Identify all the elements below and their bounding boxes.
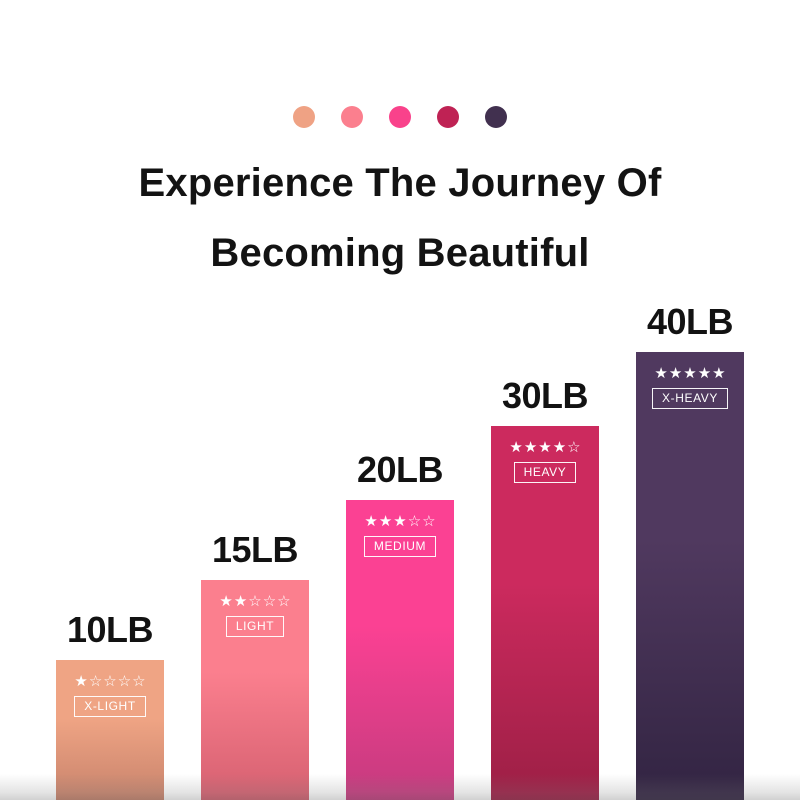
rating-stars: ★★★★★ — [654, 366, 725, 381]
star-filled-icon: ★ — [538, 440, 551, 455]
bar-column-30lb[interactable]: 30LB★★★★☆HEAVY — [491, 378, 599, 800]
bar-column-10lb[interactable]: 10LB★☆☆☆☆X-LIGHT — [56, 612, 164, 800]
resistance-bar-chart: 10LB★☆☆☆☆X-LIGHT15LB★★☆☆☆LIGHT20LB★★★☆☆M… — [0, 280, 800, 800]
star-filled-icon: ★ — [364, 514, 377, 529]
star-empty-icon: ☆ — [422, 514, 435, 529]
rating-stars: ★★☆☆☆ — [219, 594, 290, 609]
level-badge: LIGHT — [226, 616, 284, 637]
rating-stars: ★★★☆☆ — [364, 514, 435, 529]
star-empty-icon: ☆ — [89, 674, 102, 689]
star-filled-icon: ★ — [654, 366, 667, 381]
star-empty-icon: ☆ — [132, 674, 145, 689]
bar-column-20lb[interactable]: 20LB★★★☆☆MEDIUM — [346, 452, 454, 800]
headline-line-2: Becoming Beautiful — [0, 218, 800, 288]
star-filled-icon: ★ — [683, 366, 696, 381]
star-filled-icon: ★ — [669, 366, 682, 381]
bar-body: ★★☆☆☆LIGHT — [201, 580, 309, 800]
bar-body: ★☆☆☆☆X-LIGHT — [56, 660, 164, 800]
star-empty-icon: ☆ — [103, 674, 116, 689]
decorative-dot-row — [0, 106, 800, 128]
star-empty-icon: ☆ — [277, 594, 290, 609]
bar-weight-label: 40LB — [647, 304, 733, 340]
decorative-dot-2 — [341, 106, 363, 128]
level-badge: X-HEAVY — [652, 388, 728, 409]
star-filled-icon: ★ — [553, 440, 566, 455]
promo-banner: Experience The Journey Of Becoming Beaut… — [0, 0, 800, 800]
decorative-dot-4 — [437, 106, 459, 128]
bar-weight-label: 10LB — [67, 612, 153, 648]
star-empty-icon: ☆ — [408, 514, 421, 529]
bar-weight-label: 30LB — [502, 378, 588, 414]
bar-column-15lb[interactable]: 15LB★★☆☆☆LIGHT — [201, 532, 309, 800]
level-badge: HEAVY — [514, 462, 577, 483]
star-empty-icon: ☆ — [248, 594, 261, 609]
bar-body: ★★★★★X-HEAVY — [636, 352, 744, 800]
decorative-dot-1 — [293, 106, 315, 128]
star-filled-icon: ★ — [219, 594, 232, 609]
star-empty-icon: ☆ — [263, 594, 276, 609]
star-filled-icon: ★ — [509, 440, 522, 455]
star-empty-icon: ☆ — [118, 674, 131, 689]
bar-weight-label: 20LB — [357, 452, 443, 488]
rating-stars: ★★★★☆ — [509, 440, 580, 455]
headline-line-1: Experience The Journey Of — [0, 148, 800, 218]
level-badge: X-LIGHT — [74, 696, 146, 717]
bar-body: ★★★★☆HEAVY — [491, 426, 599, 800]
star-filled-icon: ★ — [393, 514, 406, 529]
star-filled-icon: ★ — [712, 366, 725, 381]
bar-body: ★★★☆☆MEDIUM — [346, 500, 454, 800]
decorative-dot-3 — [389, 106, 411, 128]
decorative-dot-5 — [485, 106, 507, 128]
star-filled-icon: ★ — [234, 594, 247, 609]
star-filled-icon: ★ — [379, 514, 392, 529]
rating-stars: ★☆☆☆☆ — [74, 674, 145, 689]
bar-weight-label: 15LB — [212, 532, 298, 568]
bar-column-40lb[interactable]: 40LB★★★★★X-HEAVY — [636, 304, 744, 800]
star-filled-icon: ★ — [74, 674, 87, 689]
star-filled-icon: ★ — [524, 440, 537, 455]
level-badge: MEDIUM — [364, 536, 436, 557]
star-filled-icon: ★ — [698, 366, 711, 381]
star-empty-icon: ☆ — [567, 440, 580, 455]
page-title: Experience The Journey Of Becoming Beaut… — [0, 148, 800, 288]
